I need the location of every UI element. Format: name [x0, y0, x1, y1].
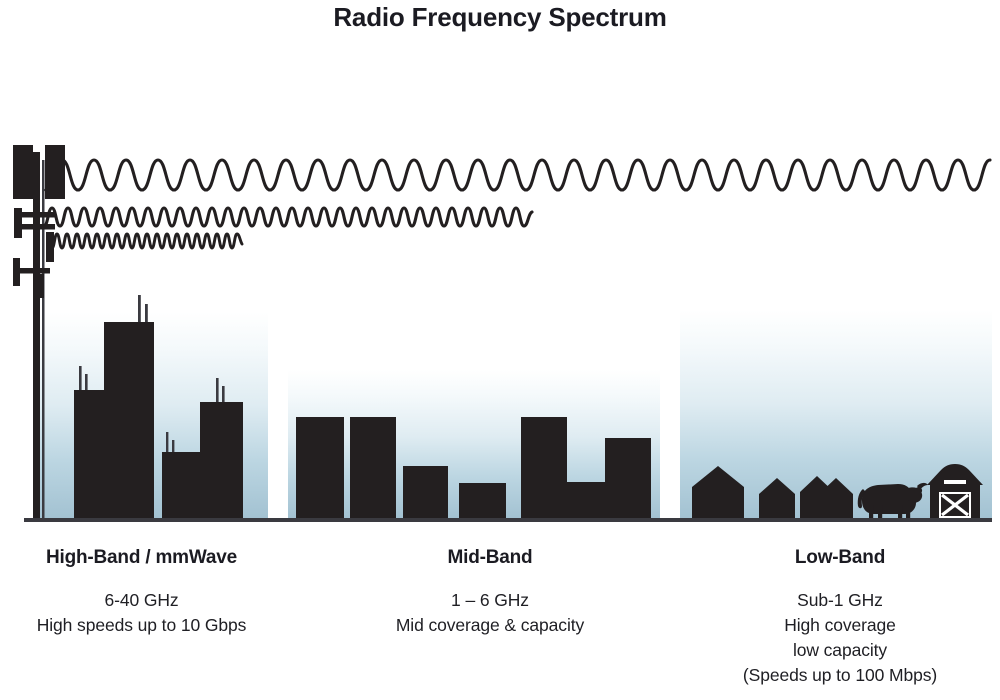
band-frequency-low: Sub-1 GHz — [680, 588, 1000, 613]
tower-crossbar-mid — [21, 224, 55, 230]
band-title-low: Low-Band — [680, 547, 1000, 569]
midrise-5 — [521, 417, 567, 518]
barn-hayloft-slot — [944, 480, 966, 484]
midrise-2 — [350, 417, 396, 518]
band-description-high-0: High speeds up to 10 Gbps — [0, 613, 283, 638]
antenna-panel-4 — [46, 232, 54, 262]
antenna-panel-3 — [14, 208, 22, 238]
midrise-3 — [403, 466, 448, 518]
tower-mast — [33, 152, 40, 518]
infographic-root: Radio Frequency Spectrum — [0, 0, 1000, 700]
ground-line — [24, 518, 992, 522]
band-title-mid: Mid-Band — [330, 547, 650, 569]
band-description-low-1: low capacity — [680, 638, 1000, 663]
band-frequency-mid: 1 – 6 GHz — [330, 588, 650, 613]
midrise-1 — [296, 417, 344, 518]
antenna-panel-2 — [45, 145, 65, 199]
skyscraper-3 — [162, 452, 200, 518]
antenna-panel-5 — [13, 258, 20, 286]
tower-crossbar-upper — [21, 212, 55, 218]
band-caption-high: High-Band / mmWave 6-40 GHz High speeds … — [0, 547, 283, 638]
band-description-low-0: High coverage — [680, 613, 1000, 638]
tower-foot — [40, 274, 44, 298]
band-caption-mid: Mid-Band 1 – 6 GHz Mid coverage & capaci… — [330, 547, 650, 638]
skyscraper-2 — [104, 322, 154, 518]
low-frequency-wave — [46, 160, 990, 190]
radio-waves — [44, 160, 990, 248]
skyscraper-1 — [74, 390, 104, 518]
band-frequency-high: 6-40 GHz — [0, 588, 283, 613]
band-description-mid-0: Mid coverage & capacity — [330, 613, 650, 638]
midrise-7 — [605, 438, 651, 518]
tower-crossbar-lower — [16, 268, 50, 274]
mid-frequency-wave — [44, 208, 532, 226]
antenna-panel-1 — [13, 145, 33, 199]
high-frequency-wave — [52, 234, 242, 248]
midrise-4 — [459, 483, 506, 518]
midrise-6 — [567, 482, 605, 518]
band-description-low-2: (Speeds up to 100 Mbps) — [680, 663, 1000, 688]
band-caption-low: Low-Band Sub-1 GHz High coverage low cap… — [680, 547, 1000, 688]
band-title-high: High-Band / mmWave — [0, 547, 283, 569]
skyscraper-4 — [200, 402, 243, 518]
